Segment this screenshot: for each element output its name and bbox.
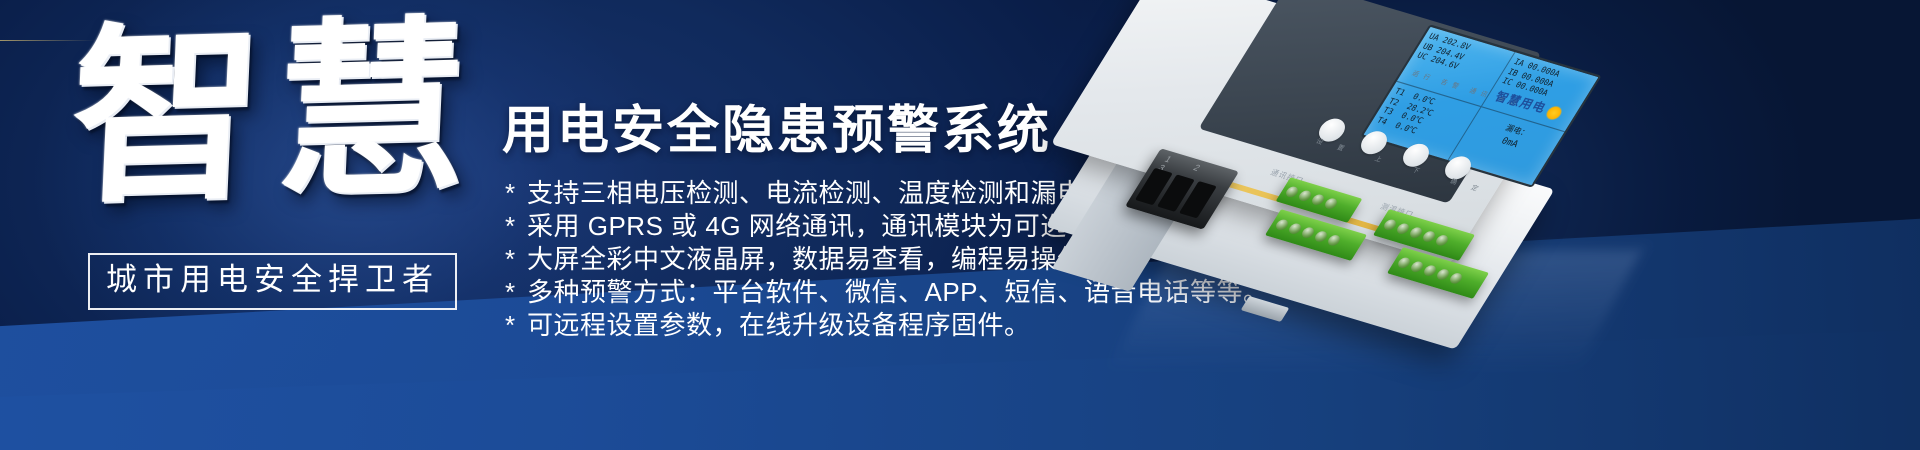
slogan-text: 城市用电安全捍卫者	[106, 261, 439, 299]
device-din-clip	[1241, 296, 1290, 322]
bullet-marker-icon: *	[505, 310, 527, 341]
page-title: 用电安全隐患预警系统	[502, 88, 1052, 163]
list-item-label: 可远程设置参数，在线升级设备程序固件。	[527, 310, 1031, 341]
bullet-marker-icon: *	[505, 277, 527, 308]
terminal-screw	[1448, 272, 1464, 285]
promo-banner: 智慧 城市用电安全捍卫者 用电安全隐患预警系统 * 支持三相电压检测、电流检测、…	[0, 0, 1920, 450]
slogan-box: 城市用电安全捍卫者	[88, 253, 457, 310]
terminal-screw	[1326, 234, 1342, 247]
bullet-marker-icon: *	[505, 244, 527, 275]
calligraphy-title: 智慧	[68, 13, 497, 214]
terminal-screw	[1323, 197, 1339, 210]
bullet-marker-icon: *	[505, 211, 527, 242]
calligraphy-wrap: 智慧	[72, 18, 492, 288]
product-device-image: UA 202.8V UB 204.4V UC 204.6V IA 00.000A…	[1095, 10, 1655, 340]
terminal-screw	[1434, 234, 1450, 247]
list-item-label: 大屏全彩中文液晶屏，数据易查看，编程易操作。	[527, 244, 1110, 275]
bullet-marker-icon: *	[505, 178, 527, 209]
